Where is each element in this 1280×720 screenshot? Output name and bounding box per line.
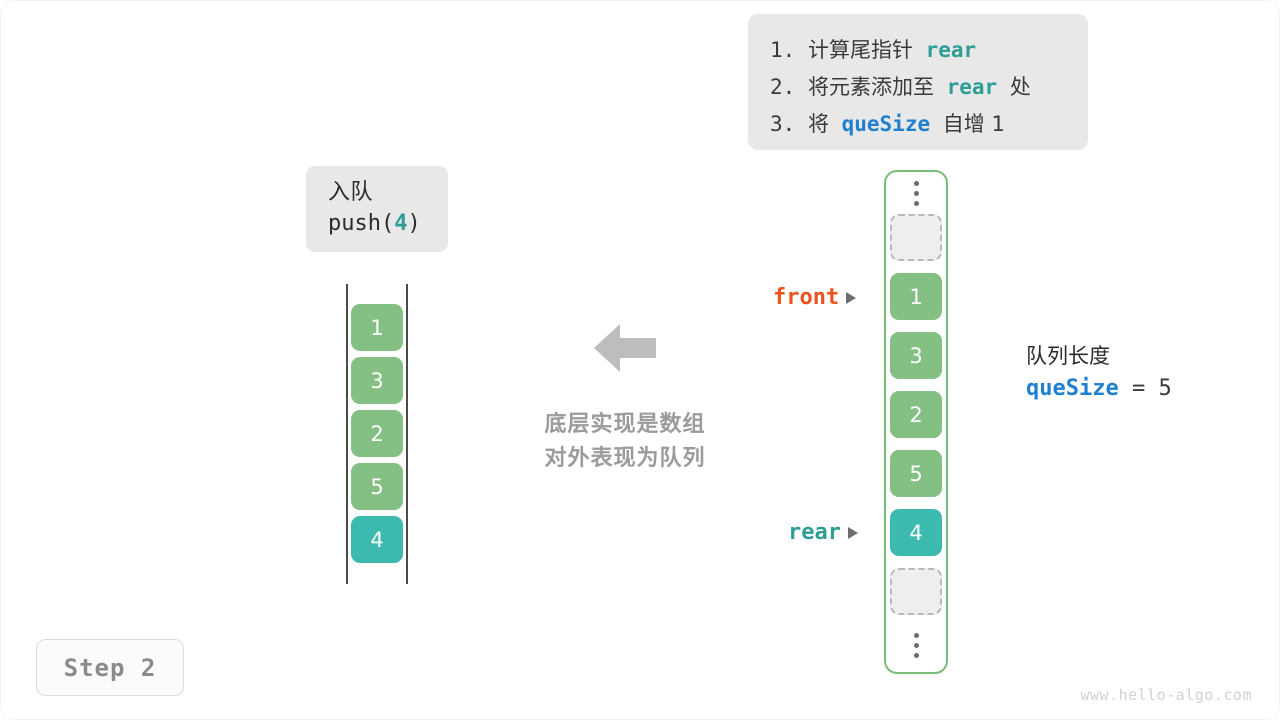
quesize-equals: = [1119, 376, 1159, 401]
step-3-text-before: 将 [808, 112, 829, 136]
right-array-cell: 4 [890, 509, 942, 556]
quesize-var: queSize [1026, 376, 1119, 401]
right-rail-line [406, 284, 408, 584]
middle-caption-line1: 底层实现是数组 [520, 408, 730, 442]
top-ellipsis-icon [886, 172, 946, 214]
step-2-num: 2. [770, 75, 795, 99]
front-pointer: front [773, 285, 856, 310]
step-line-1: 1. 计算尾指针 rear [770, 32, 1088, 69]
operation-call-suffix: ) [407, 211, 420, 236]
step-2-text-before: 将元素添加至 [808, 75, 934, 99]
front-pointer-label: front [773, 285, 839, 310]
operation-call-arg: 4 [394, 211, 407, 236]
right-array-cells: 13254 [890, 214, 942, 627]
right-array-cell: 1 [890, 273, 942, 320]
left-queue-cell: 4 [351, 516, 403, 563]
right-array-cell: 3 [890, 332, 942, 379]
right-array-cell [890, 214, 942, 261]
quesize-annotation: 队列长度 queSize = 5 [1026, 340, 1172, 406]
steps-box: 1. 计算尾指针 rear 2. 将元素添加至 rear 处 3. 将 queS… [748, 14, 1088, 150]
left-queue-cell: 5 [351, 463, 403, 510]
left-queue-cell: 2 [351, 410, 403, 457]
step-3-text-after: 自增 1 [943, 112, 1005, 136]
step-1-text-before: 计算尾指针 [808, 38, 913, 62]
middle-caption: 底层实现是数组 对外表现为队列 [520, 408, 730, 476]
left-queue-cells: 13254 [351, 304, 403, 569]
step-3-num: 3. [770, 112, 795, 136]
bottom-ellipsis-icon [886, 624, 946, 666]
watermark: www.hello-algo.com [1080, 686, 1252, 704]
step-1-num: 1. [770, 38, 795, 62]
rear-pointer: rear [788, 520, 858, 545]
step-badge: Step 2 [36, 639, 184, 696]
step-badge-label: Step 2 [64, 654, 157, 682]
rear-pointer-label: rear [788, 520, 841, 545]
left-queue-cell: 1 [351, 304, 403, 351]
step-1-keyword: rear [926, 38, 977, 62]
quesize-expression: queSize = 5 [1026, 372, 1172, 406]
left-queue-cell: 3 [351, 357, 403, 404]
operation-call-prefix: push( [328, 211, 394, 236]
step-line-3: 3. 将 queSize 自增 1 [770, 106, 1088, 143]
operation-call: push(4) [328, 208, 448, 240]
quesize-value: 5 [1158, 376, 1171, 401]
step-2-keyword: rear [947, 75, 998, 99]
right-array-container: 13254 [884, 170, 948, 674]
right-array-cell: 5 [890, 450, 942, 497]
middle-caption-line2: 对外表现为队列 [520, 442, 730, 476]
left-rail-line [346, 284, 348, 584]
front-arrow-icon [846, 292, 856, 304]
operation-title: 入队 [328, 178, 448, 208]
left-queue-column: 13254 [346, 284, 408, 584]
step-3-keyword: queSize [842, 112, 931, 136]
operation-box: 入队 push(4) [306, 166, 448, 252]
right-array-cell [890, 568, 942, 615]
right-array-cell: 2 [890, 391, 942, 438]
quesize-label: 队列长度 [1026, 340, 1172, 372]
step-2-text-after: 处 [1010, 75, 1031, 99]
rear-arrow-icon [848, 527, 858, 539]
step-line-2: 2. 将元素添加至 rear 处 [770, 69, 1088, 106]
left-arrow-icon [594, 320, 656, 376]
